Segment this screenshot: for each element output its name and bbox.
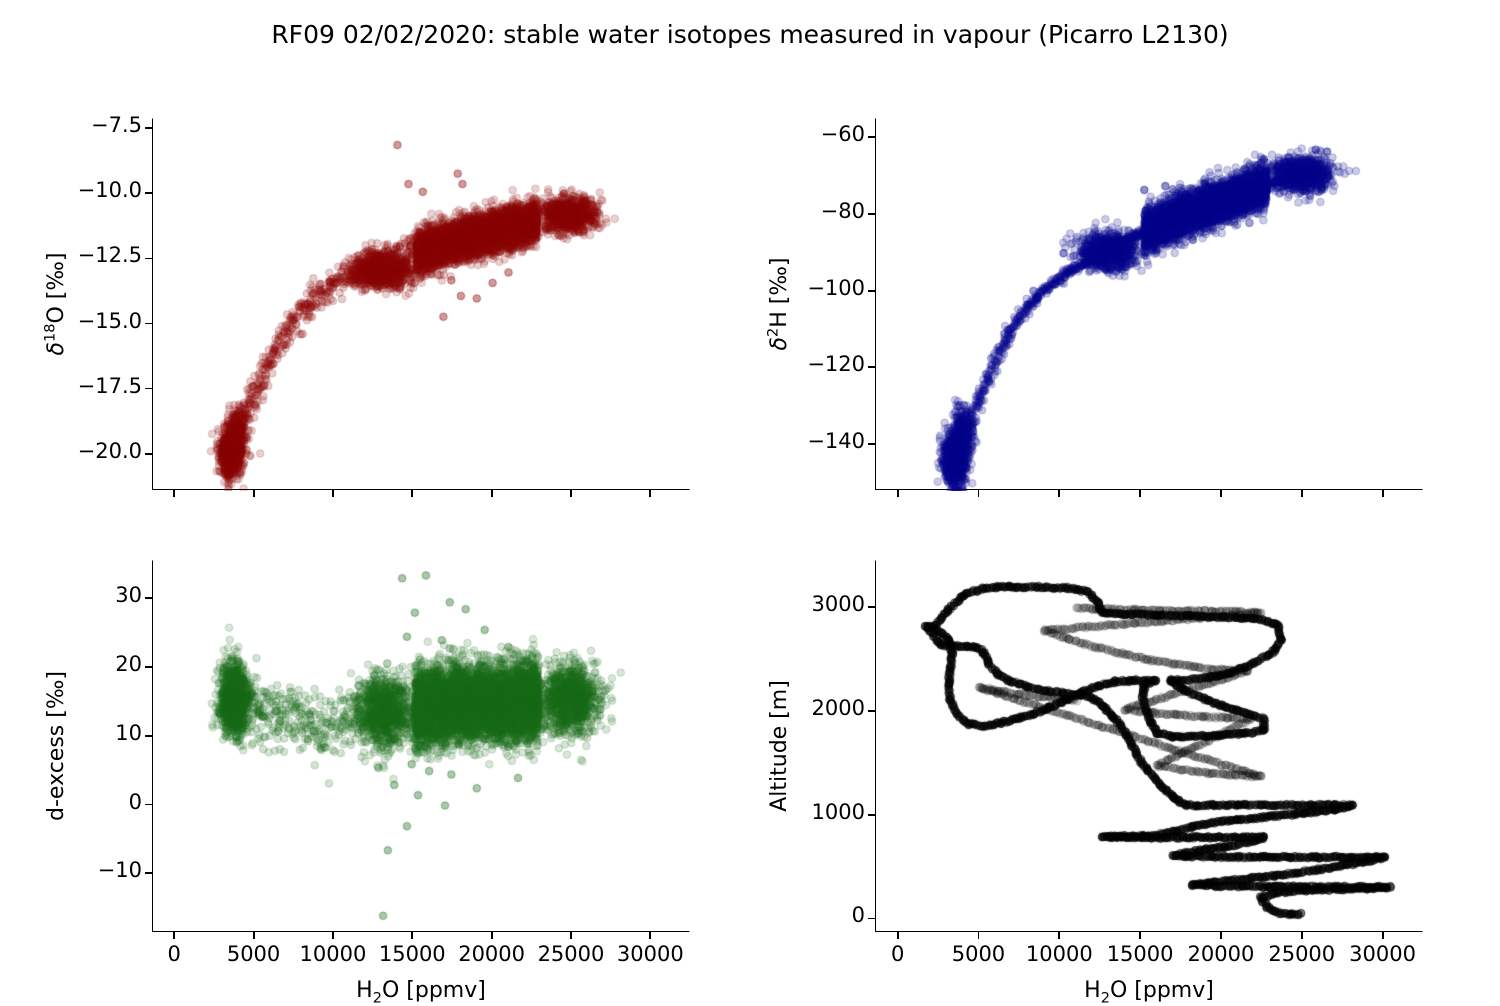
ytick-mark-0-4 [145,192,152,194]
panel-dexcess-scatter [153,561,691,933]
xtick-mark-0-5 [570,490,572,497]
ytick-mark-0-0 [145,453,152,455]
xlabel-dexcess-vs-h2o: H2O [ppmv] [221,978,621,1003]
xtick-mark-2-1 [253,932,255,939]
ytick-mark-0-1 [145,388,152,390]
panel-altitude [875,560,1423,932]
ytick-mark-2-2 [145,735,152,737]
xtick-mark-1-0 [897,490,899,497]
xtick-mark-3-5 [1301,932,1303,939]
ylabel-dexcess-vs-h2o: d-excess [‰] [39,596,75,896]
panel-d2h-axes [875,118,1423,490]
ytick-mark-2-3 [145,666,152,668]
xtick-mark-3-0 [897,932,899,939]
xtick-mark-1-4 [1220,490,1222,497]
ytick-mark-3-3 [868,606,875,608]
xtick-mark-1-2 [1058,490,1060,497]
ylabel-d2h-vs-h2o: δ2H [‰] [762,154,798,454]
ytick-mark-1-0 [868,443,875,445]
xtick-mark-3-4 [1220,932,1222,939]
panel-d2h-scatter [876,119,1424,491]
xtick-mark-0-2 [332,490,334,497]
xtick-mark-3-2 [1058,932,1060,939]
ytick-label-1-4: −60 [727,122,865,146]
xtick-mark-3-3 [1139,932,1141,939]
panel-altitude-axes [875,560,1423,932]
ytick-mark-3-1 [868,814,875,816]
xtick-mark-0-1 [253,490,255,497]
xtick-mark-1-5 [1301,490,1303,497]
xtick-mark-2-0 [173,932,175,939]
panel-d2h [875,118,1423,490]
ytick-mark-2-1 [145,804,152,806]
ytick-mark-2-4 [145,597,152,599]
xlabel-altitude-vs-h2o: H2O [ppmv] [949,978,1349,1003]
xtick-mark-0-0 [173,490,175,497]
ytick-mark-1-2 [868,290,875,292]
ytick-mark-0-3 [145,258,152,260]
ytick-mark-2-0 [145,872,152,874]
xtick-mark-2-4 [491,932,493,939]
panel-dexcess [152,560,690,932]
xtick-mark-2-5 [570,932,572,939]
ytick-mark-1-4 [868,136,875,138]
ytick-mark-1-1 [868,366,875,368]
figure-title: RF09 02/02/2020: stable water isotopes m… [0,20,1500,49]
panel-d18o-scatter [153,119,691,491]
ytick-mark-3-2 [868,710,875,712]
panel-altitude-scatter [876,561,1424,933]
ytick-mark-0-5 [145,127,152,129]
panel-dexcess-axes [152,560,690,932]
ytick-label-3-0: 0 [727,903,865,927]
xtick-mark-2-6 [649,932,651,939]
xtick-mark-3-6 [1382,932,1384,939]
xtick-mark-0-3 [411,490,413,497]
ytick-mark-3-0 [868,918,875,920]
figure-root: RF09 02/02/2020: stable water isotopes m… [0,0,1500,1000]
xtick-mark-0-4 [491,490,493,497]
ylabel-altitude-vs-h2o: Altitude [m] [762,596,798,896]
xtick-label-3-6: 30000 [1313,942,1453,966]
xtick-label-2-6: 30000 [580,942,720,966]
ytick-mark-1-3 [868,213,875,215]
xtick-mark-2-2 [332,932,334,939]
xtick-mark-1-1 [978,490,980,497]
panel-d18o [152,118,690,490]
xtick-mark-1-6 [1382,490,1384,497]
panel-d18o-axes [152,118,690,490]
ytick-label-0-5: −7.5 [4,113,142,137]
xtick-mark-2-3 [411,932,413,939]
ytick-mark-0-2 [145,323,152,325]
xtick-mark-1-3 [1139,490,1141,497]
xtick-mark-3-1 [978,932,980,939]
ylabel-d18o-vs-h2o: δ18O [‰] [39,154,75,454]
xtick-mark-0-6 [649,490,651,497]
